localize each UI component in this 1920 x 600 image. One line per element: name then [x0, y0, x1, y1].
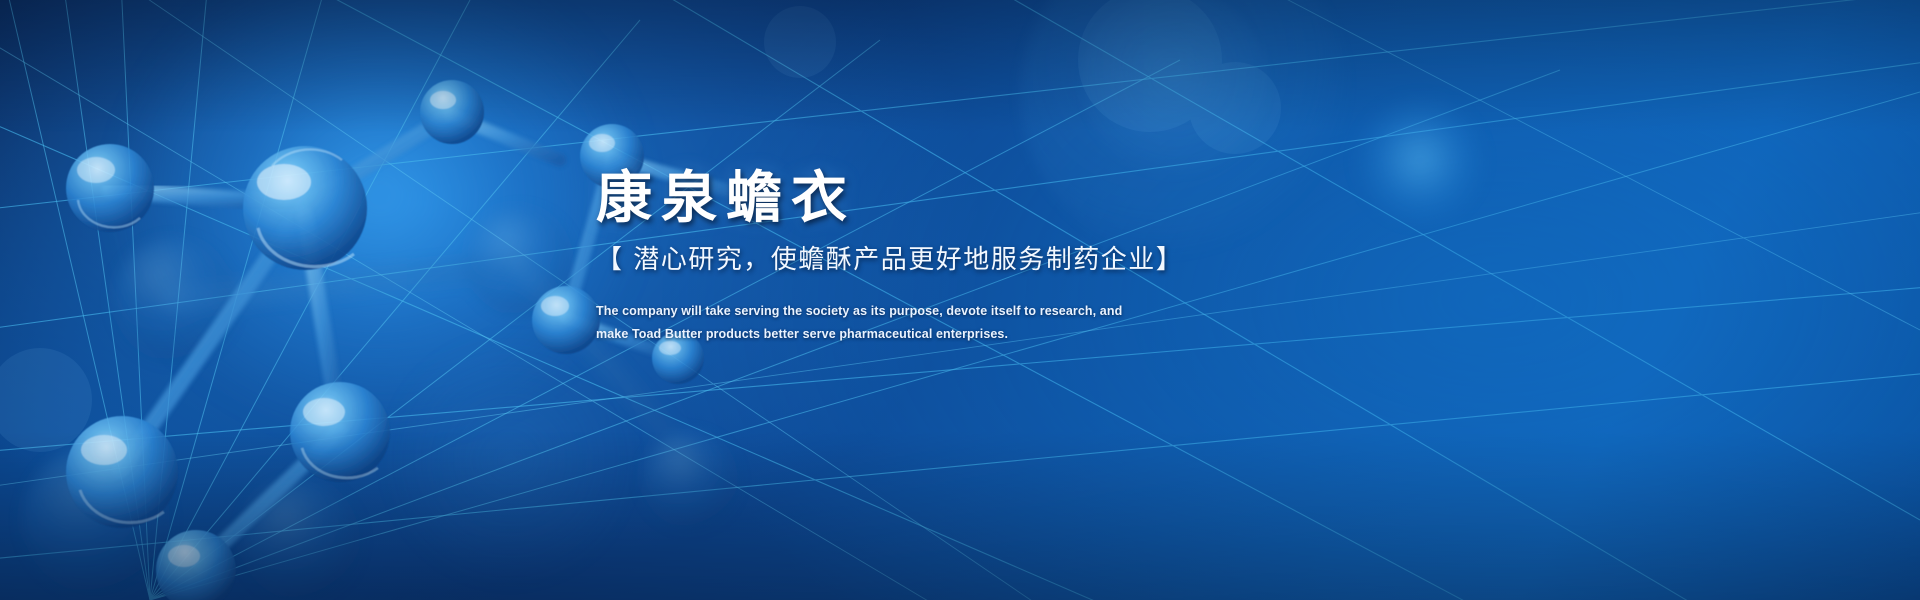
hero-banner: 康泉蟾衣 【 潜心研究，使蟾酥产品更好地服务制药企业】 The company …	[0, 0, 1920, 600]
banner-title: 康泉蟾衣	[596, 166, 1316, 232]
banner-subtitle: 【 潜心研究，使蟾酥产品更好地服务制药企业】	[596, 244, 1316, 278]
description-line-1: The company will take serving the societ…	[596, 300, 1066, 323]
description-line-2: make Toad Butter products better serve p…	[596, 323, 1066, 346]
banner-description: The company will take serving the societ…	[596, 300, 1066, 346]
banner-text-block: 康泉蟾衣 【 潜心研究，使蟾酥产品更好地服务制药企业】 The company …	[596, 166, 1316, 346]
